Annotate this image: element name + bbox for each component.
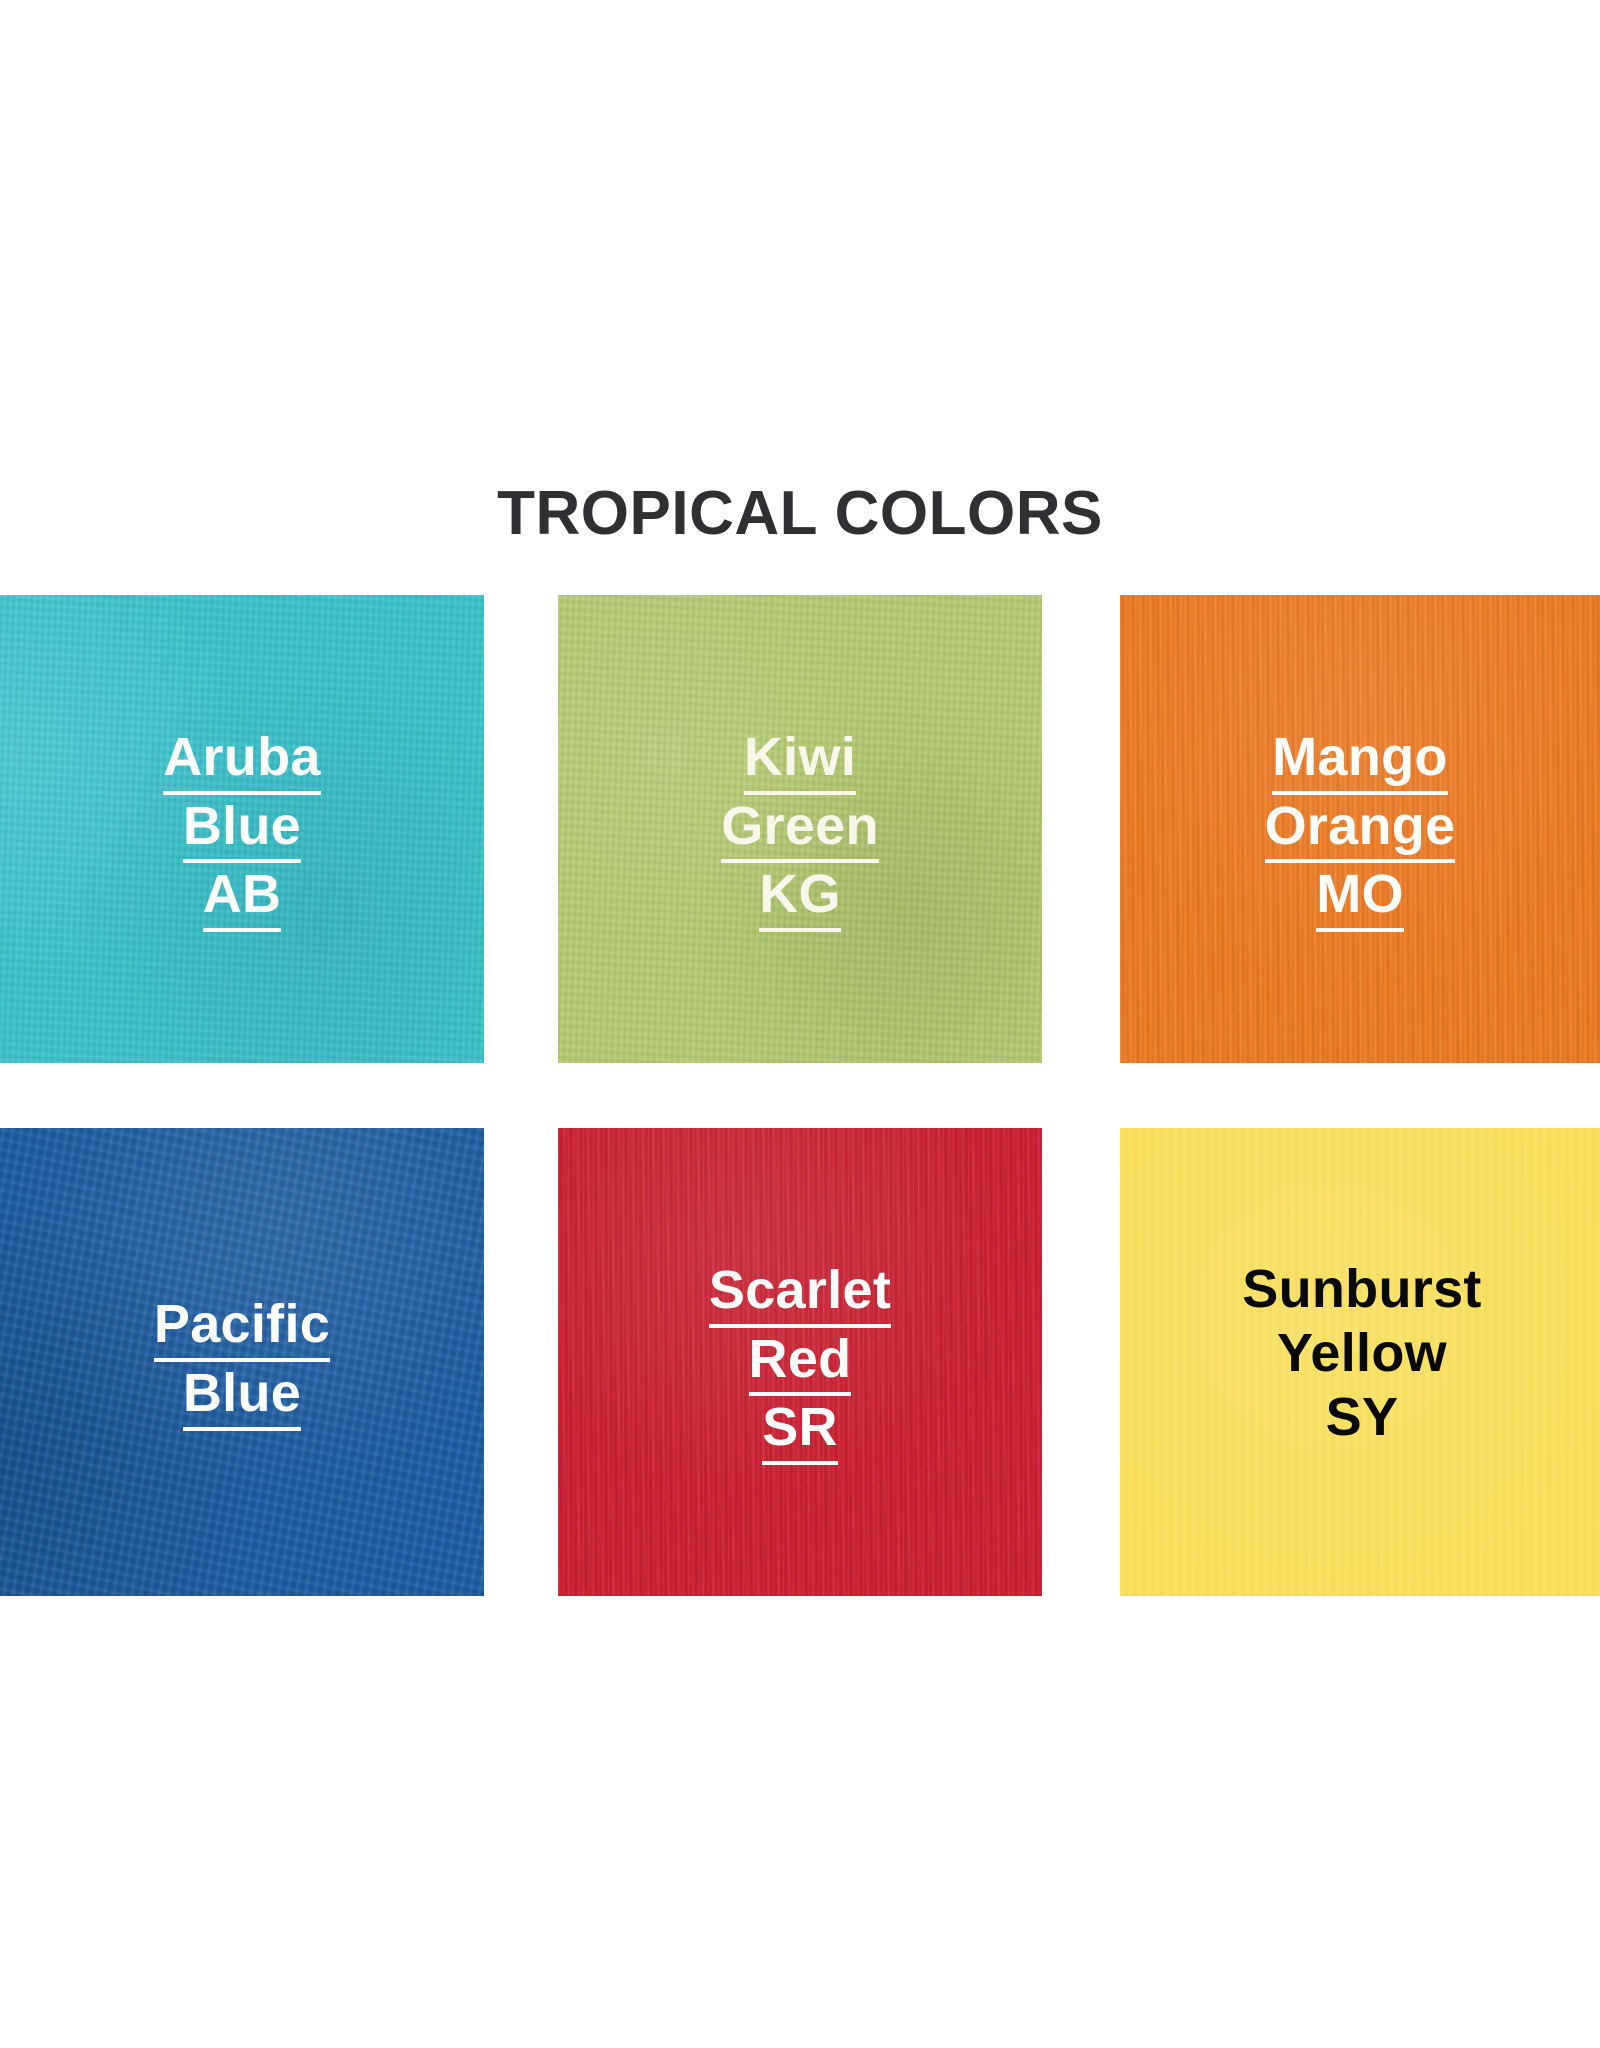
swatch-label-scarlet-red: Scarlet Red SR <box>709 1259 891 1465</box>
swatch-label-line: Green <box>721 795 879 864</box>
swatch-mango-orange[interactable]: Mango Orange MO <box>1120 595 1600 1063</box>
swatch-label-line: Orange <box>1265 795 1456 864</box>
page-title: TROPICAL COLORS <box>0 481 1600 546</box>
swatch-label-line: Sunburst <box>1242 1258 1481 1322</box>
swatch-code-line: KG <box>721 863 879 932</box>
swatch-label-line: Mango <box>1265 726 1456 795</box>
swatch-label-pacific-blue: Pacific Blue <box>154 1293 330 1430</box>
swatch-code-line: SR <box>709 1396 891 1465</box>
swatch-sunburst-yellow[interactable]: Sunburst Yellow SY <box>1120 1128 1600 1596</box>
swatch-label-mango-orange: Mango Orange MO <box>1265 726 1456 932</box>
swatch-code-line: SY <box>1242 1386 1481 1450</box>
swatch-label-line: Yellow <box>1242 1322 1481 1386</box>
swatch-kiwi-green[interactable]: Kiwi Green KG <box>558 595 1042 1063</box>
swatch-label-aruba-blue: Aruba Blue AB <box>163 726 321 932</box>
page-canvas: TROPICAL COLORS Aruba Blue AB Kiwi Green… <box>0 0 1600 2048</box>
swatch-label-line: Pacific <box>154 1293 330 1362</box>
swatch-code-line: AB <box>163 863 321 932</box>
swatch-label-kiwi-green: Kiwi Green KG <box>721 726 879 932</box>
swatch-scarlet-red[interactable]: Scarlet Red SR <box>558 1128 1042 1596</box>
swatch-label-line: Blue <box>154 1362 330 1431</box>
swatch-label-line: Kiwi <box>721 726 879 795</box>
swatch-label-line: Scarlet <box>709 1259 891 1328</box>
swatch-label-line: Blue <box>163 795 321 864</box>
swatch-code-line: MO <box>1265 863 1456 932</box>
color-swatch-grid: Aruba Blue AB Kiwi Green KG Mango Orange… <box>0 595 1600 1596</box>
swatch-label-line: Red <box>709 1328 891 1397</box>
swatch-label-sunburst-yellow: Sunburst Yellow SY <box>1242 1258 1481 1449</box>
swatch-label-line: Aruba <box>163 726 321 795</box>
swatch-aruba-blue[interactable]: Aruba Blue AB <box>0 595 484 1063</box>
swatch-pacific-blue[interactable]: Pacific Blue <box>0 1128 484 1596</box>
